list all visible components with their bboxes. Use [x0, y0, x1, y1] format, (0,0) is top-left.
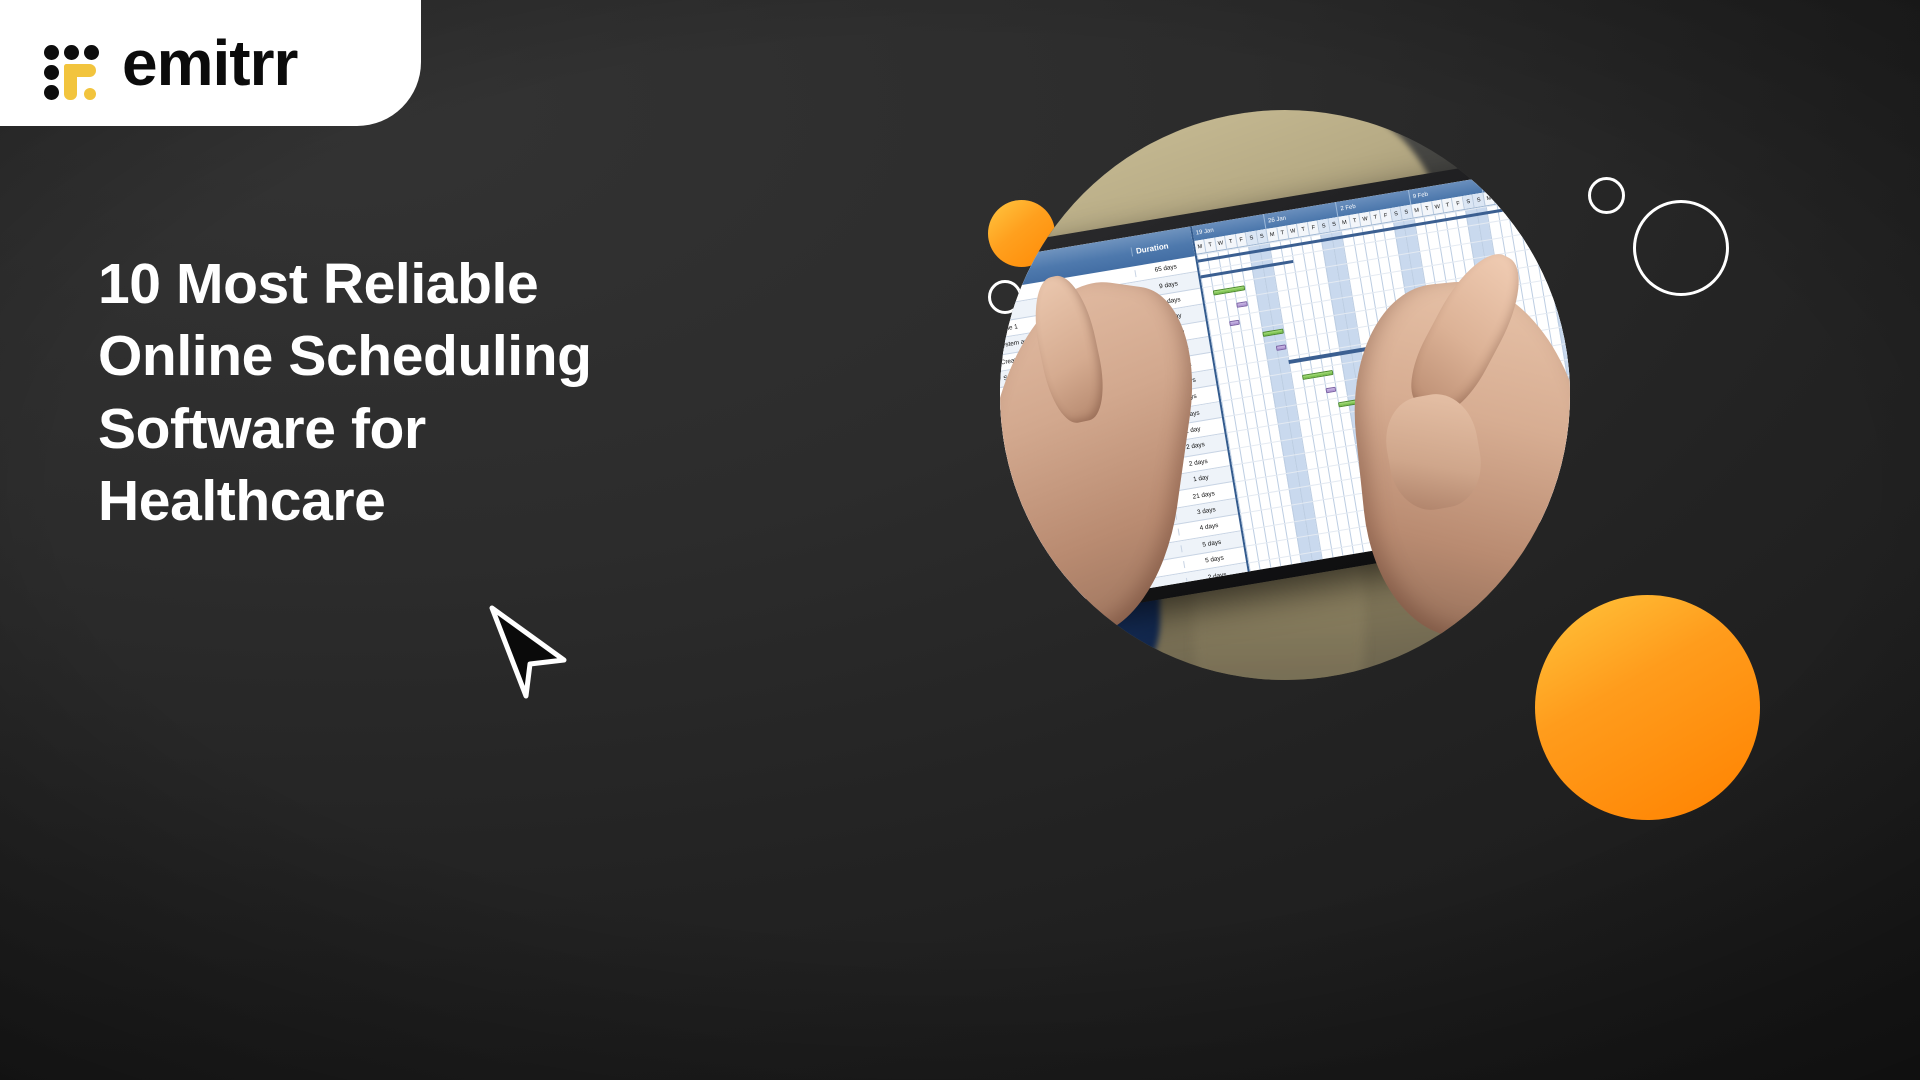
timeline-day-label: S	[1545, 181, 1557, 196]
ring-big-right	[1633, 200, 1729, 296]
ring-small-right	[1588, 177, 1625, 214]
page-background	[0, 0, 1920, 1080]
logo-wordmark: emitrr	[122, 31, 297, 95]
page-title: 10 Most Reliable Online Scheduling Softw…	[98, 248, 778, 538]
gantt-bar[interactable]	[1213, 285, 1245, 295]
gantt-bar[interactable]	[1236, 302, 1247, 309]
column-header-duration: Duration	[1130, 237, 1193, 256]
logo-panel[interactable]: emitrr	[0, 0, 421, 126]
gantt-bar[interactable]	[1302, 370, 1334, 380]
gantt-bar[interactable]	[1325, 386, 1336, 393]
gantt-bar[interactable]	[1229, 319, 1240, 326]
emitrr-dot-matrix-logo-icon	[44, 36, 106, 92]
hero-photo-circle: Task Name Duration 65 days1Project Plan9…	[1000, 110, 1570, 680]
mouse-pointer-icon	[486, 604, 572, 700]
